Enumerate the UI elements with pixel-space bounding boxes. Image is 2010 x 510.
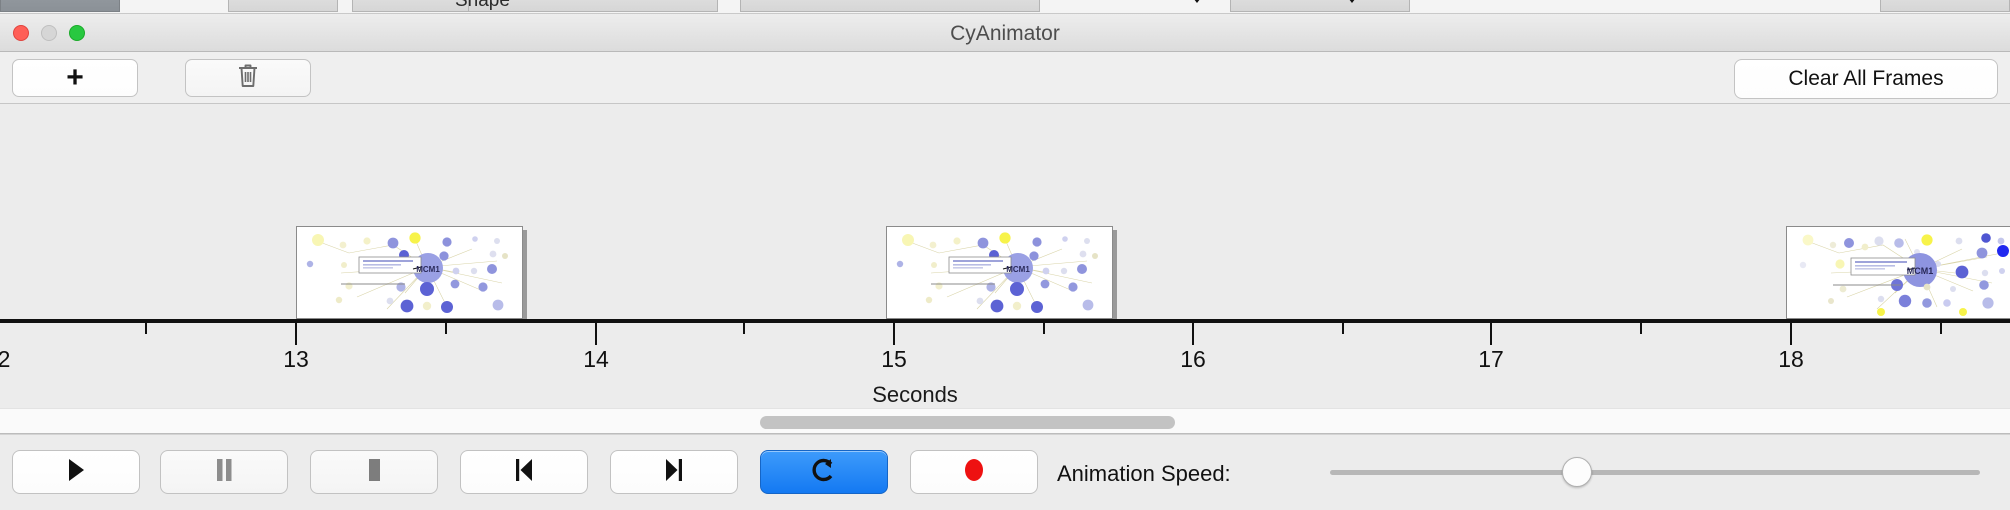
loop-button[interactable] — [760, 450, 888, 494]
axis-tick-minor — [743, 323, 745, 334]
background-window — [0, 0, 120, 12]
background-desktop-strip: Shape — [0, 0, 2010, 13]
window-title: CyAnimator — [0, 22, 2010, 46]
clear-all-frames-button[interactable]: Clear All Frames — [1734, 59, 1998, 99]
network-thumbnail-image: MCM1 — [887, 227, 1112, 318]
stop-icon — [363, 457, 385, 488]
axis-tick-minor — [445, 323, 447, 334]
axis-tick-label: 2 — [0, 346, 10, 373]
frame-thumbnail[interactable]: MCM1 — [886, 226, 1113, 319]
clear-all-frames-label: Clear All Frames — [1788, 67, 1943, 91]
axis-tick-major — [595, 323, 597, 345]
slider-track[interactable] — [1330, 470, 1980, 475]
background-cursor-arrow — [1345, 0, 1359, 3]
play-icon — [65, 457, 87, 488]
background-window — [740, 0, 1040, 12]
frame-thumbnail[interactable]: MCM1 — [1786, 226, 2010, 319]
hub-node-label: MCM1 — [416, 265, 440, 274]
playback-controls: Animation Speed: — [0, 434, 2010, 508]
background-window — [1230, 0, 1410, 12]
skip-back-icon — [512, 457, 536, 488]
timeline-scrollbar-thumb[interactable] — [760, 416, 1175, 429]
axis-tick-major — [1790, 323, 1792, 345]
timeline-axis — [0, 319, 2010, 323]
slider-thumb[interactable] — [1562, 457, 1592, 487]
axis-tick-label: 16 — [1180, 346, 1206, 373]
axis-tick-minor — [1043, 323, 1045, 334]
cyanimator-window: CyAnimator + Clear All Frames — [0, 13, 2010, 510]
axis-tick-label: 15 — [881, 346, 907, 373]
node-tooltip-box — [1851, 258, 1915, 275]
frame-thumbnail[interactable]: MCM1 — [296, 226, 523, 319]
delete-frame-button[interactable] — [185, 59, 311, 97]
network-thumbnail-image: MCM1 — [1787, 227, 2010, 318]
axis-tick-minor — [145, 323, 147, 334]
node-tooltip-box — [359, 257, 421, 273]
pause-button[interactable] — [160, 450, 288, 494]
record-button[interactable] — [910, 450, 1038, 494]
axis-tick-minor — [1640, 323, 1642, 334]
axis-tick-label: 17 — [1478, 346, 1504, 373]
trash-icon — [236, 62, 260, 94]
add-frame-button[interactable]: + — [12, 59, 138, 97]
background-window — [1880, 0, 2010, 12]
window-titlebar: CyAnimator — [0, 14, 2010, 52]
axis-title: Seconds — [0, 382, 2010, 408]
timeline-scrollbar[interactable] — [0, 408, 2010, 434]
background-window-label-shape: Shape — [455, 0, 510, 12]
record-icon — [961, 456, 987, 489]
axis-tick-minor — [1940, 323, 1942, 334]
next-frame-button[interactable] — [610, 450, 738, 494]
axis-tick-major — [295, 323, 297, 345]
background-cursor-arrow — [1190, 0, 1204, 3]
hub-node-label: MCM1 — [1006, 265, 1030, 274]
plus-icon: + — [66, 66, 84, 90]
axis-tick-label: 18 — [1778, 346, 1804, 373]
previous-frame-button[interactable] — [460, 450, 588, 494]
cyanimator-screen: Shape CyAnimator + — [0, 0, 2010, 510]
timeline-panel[interactable]: MCM1 — [0, 104, 2010, 408]
skip-forward-icon — [662, 457, 686, 488]
play-button[interactable] — [12, 450, 140, 494]
background-window — [228, 0, 338, 12]
loop-icon — [811, 456, 837, 489]
axis-tick-label: 14 — [583, 346, 609, 373]
pause-icon — [213, 457, 235, 488]
axis-tick-major — [1192, 323, 1194, 345]
axis-tick-label: 13 — [283, 346, 309, 373]
network-thumbnail-image: MCM1 — [297, 227, 522, 318]
axis-title-label: Seconds — [872, 382, 958, 407]
axis-tick-minor — [1342, 323, 1344, 334]
hub-node-label: MCM1 — [1907, 266, 1934, 276]
axis-tick-major — [893, 323, 895, 345]
animation-speed-label: Animation Speed: — [1057, 461, 1231, 487]
background-window — [352, 0, 472, 12]
stop-button[interactable] — [310, 450, 438, 494]
axis-tick-major — [1490, 323, 1492, 345]
animation-speed-slider[interactable] — [1330, 450, 1980, 494]
node-tooltip-box — [949, 257, 1011, 273]
frame-toolbar: + Clear All Frames — [0, 52, 2010, 104]
frame-thumbnails: MCM1 — [0, 104, 2010, 319]
